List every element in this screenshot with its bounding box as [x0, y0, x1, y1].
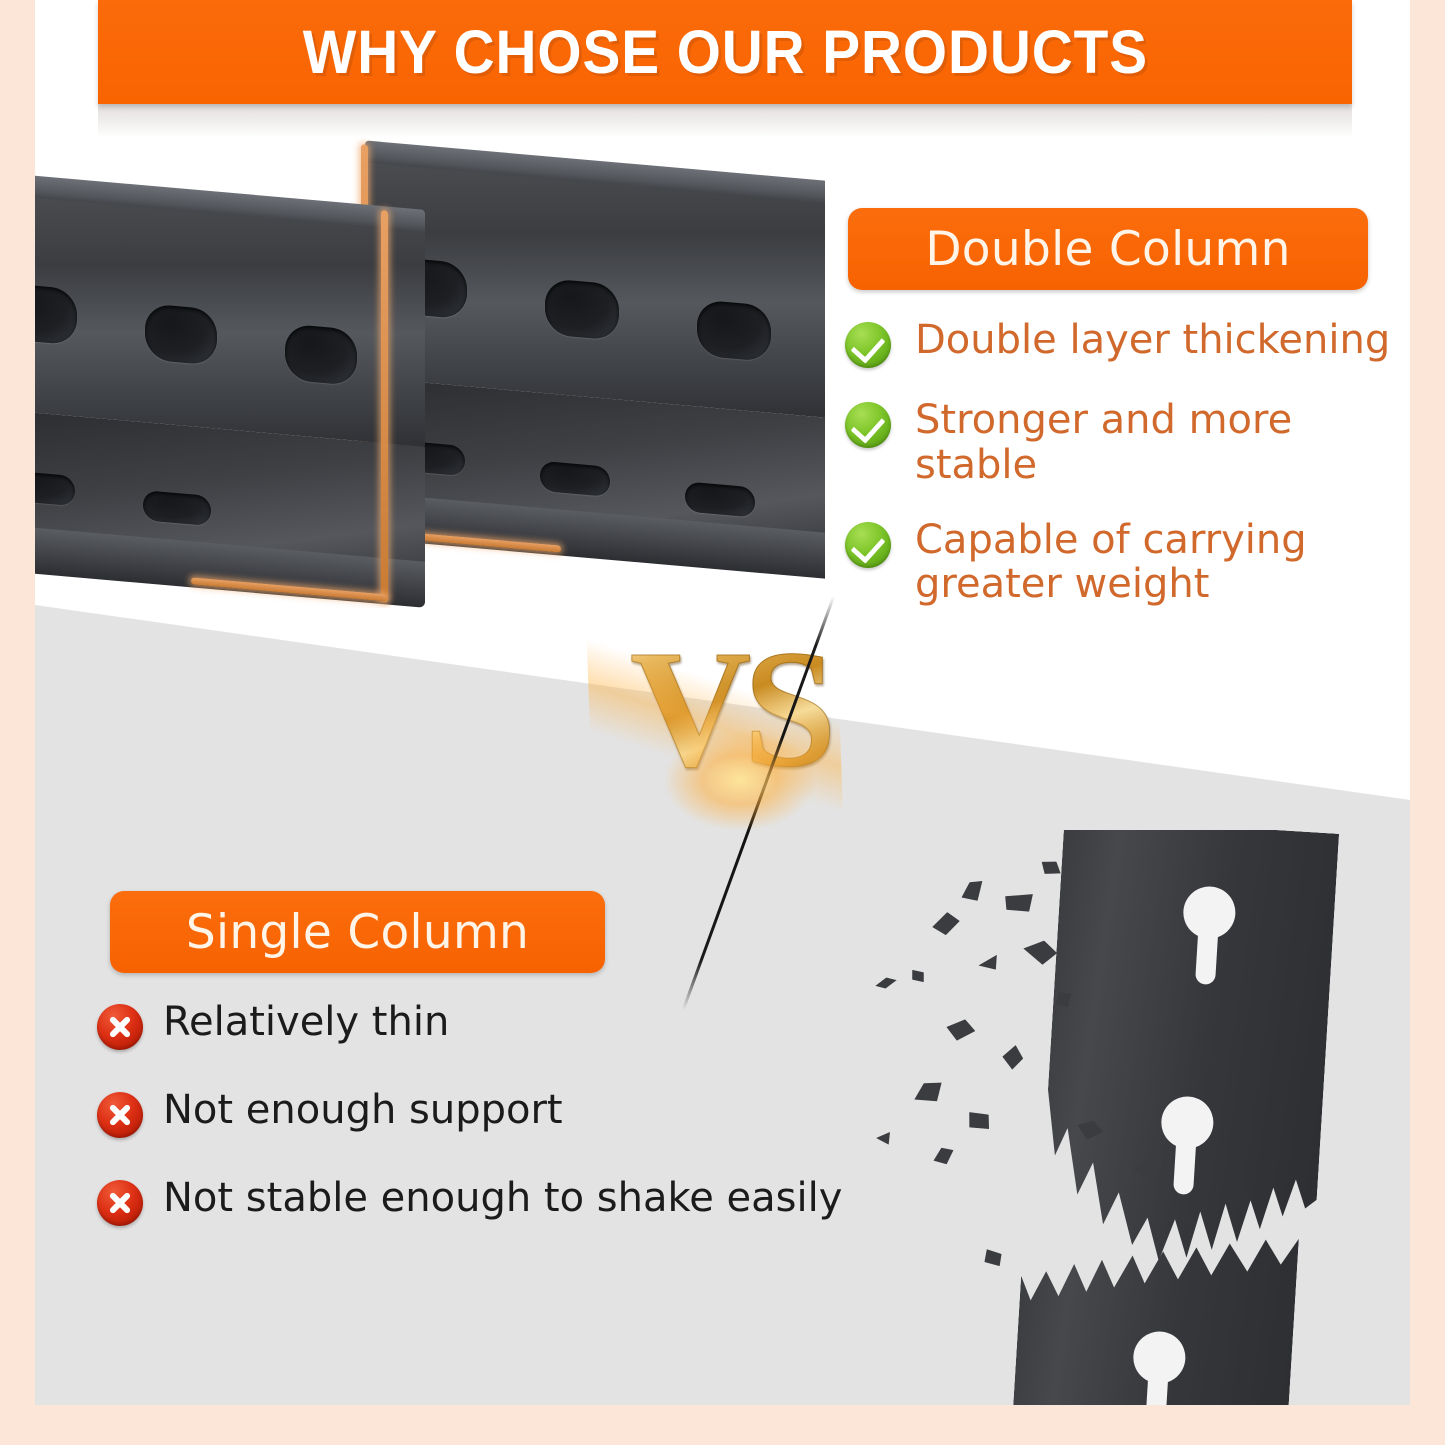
con-feature-text: Not enough support [163, 1088, 563, 1133]
list-item: Double layer thickening [845, 318, 1410, 368]
infographic-canvas: WHY CHOSE OUR PRODUCTS [35, 0, 1410, 1405]
debris-fragment [874, 1126, 895, 1147]
debris-fragment [980, 1246, 1005, 1270]
list-item: Relatively thin [97, 1000, 857, 1050]
flange-slot [540, 461, 610, 497]
banner-shadow [98, 104, 1352, 138]
bracket-rear [365, 162, 825, 603]
con-feature-text: Not stable enough to shake easily [163, 1176, 842, 1221]
x-circle-icon [97, 1004, 143, 1050]
bracket-front [35, 194, 425, 608]
list-item: Not enough support [97, 1088, 857, 1138]
double-column-product-image [35, 138, 825, 608]
keyhole-slot [35, 283, 77, 345]
list-item: Not stable enough to shake easily [97, 1176, 857, 1226]
debris-fragment [965, 1109, 993, 1134]
list-item: Capable of carrying greater weight [845, 518, 1410, 608]
versus-label: VS [630, 625, 829, 793]
check-circle-icon [845, 402, 891, 448]
check-circle-icon [845, 522, 891, 568]
pro-feature-text: Capable of carrying greater weight [915, 518, 1335, 608]
outer-frame: WHY CHOSE OUR PRODUCTS [0, 0, 1445, 1445]
x-circle-icon [97, 1180, 143, 1226]
debris-fragment [978, 950, 1003, 976]
bracket-rear-web [365, 162, 825, 418]
debris-fragment [930, 1143, 957, 1169]
debris-fragment [1002, 888, 1037, 918]
single-column-badge: Single Column [110, 891, 605, 973]
header-banner: WHY CHOSE OUR PRODUCTS [98, 0, 1352, 104]
double-column-badge-label: Double Column [925, 222, 1290, 277]
debris-fragment [910, 1076, 949, 1110]
keyhole-slot [697, 299, 771, 361]
keyhole-slot [285, 324, 357, 386]
x-circle-icon [97, 1092, 143, 1138]
keyhole-slot [545, 278, 619, 340]
con-feature-text: Relatively thin [163, 1000, 449, 1045]
pros-list: Double layer thickening Stronger and mor… [845, 318, 1410, 637]
pro-feature-text: Stronger and more stable [915, 398, 1410, 488]
keyhole-slot [145, 303, 217, 365]
copper-edge-highlight [381, 210, 388, 603]
page-title: WHY CHOSE OUR PRODUCTS [302, 17, 1147, 87]
bracket-front-web [35, 194, 425, 447]
debris-fragment [1038, 856, 1065, 880]
debris-fragment [874, 975, 898, 992]
double-column-badge: Double Column [848, 208, 1368, 290]
check-circle-icon [845, 322, 891, 368]
flange-slot [35, 470, 75, 506]
debris-fragment [908, 967, 928, 985]
pro-feature-text: Double layer thickening [915, 318, 1390, 363]
flange-slot [143, 490, 211, 526]
debris-fragment [946, 1018, 977, 1042]
debris-fragment [959, 875, 990, 906]
debris-fragment [999, 1042, 1027, 1072]
flange-slot [685, 481, 755, 517]
debris-fragment [930, 909, 962, 939]
single-column-badge-label: Single Column [186, 905, 529, 960]
list-item: Stronger and more stable [845, 398, 1410, 488]
versus-divider: VS [630, 625, 860, 870]
single-column-product-image [815, 830, 1410, 1405]
debris-fragment [1021, 937, 1059, 968]
cons-list: Relatively thin Not enough support Not s… [97, 1000, 857, 1264]
